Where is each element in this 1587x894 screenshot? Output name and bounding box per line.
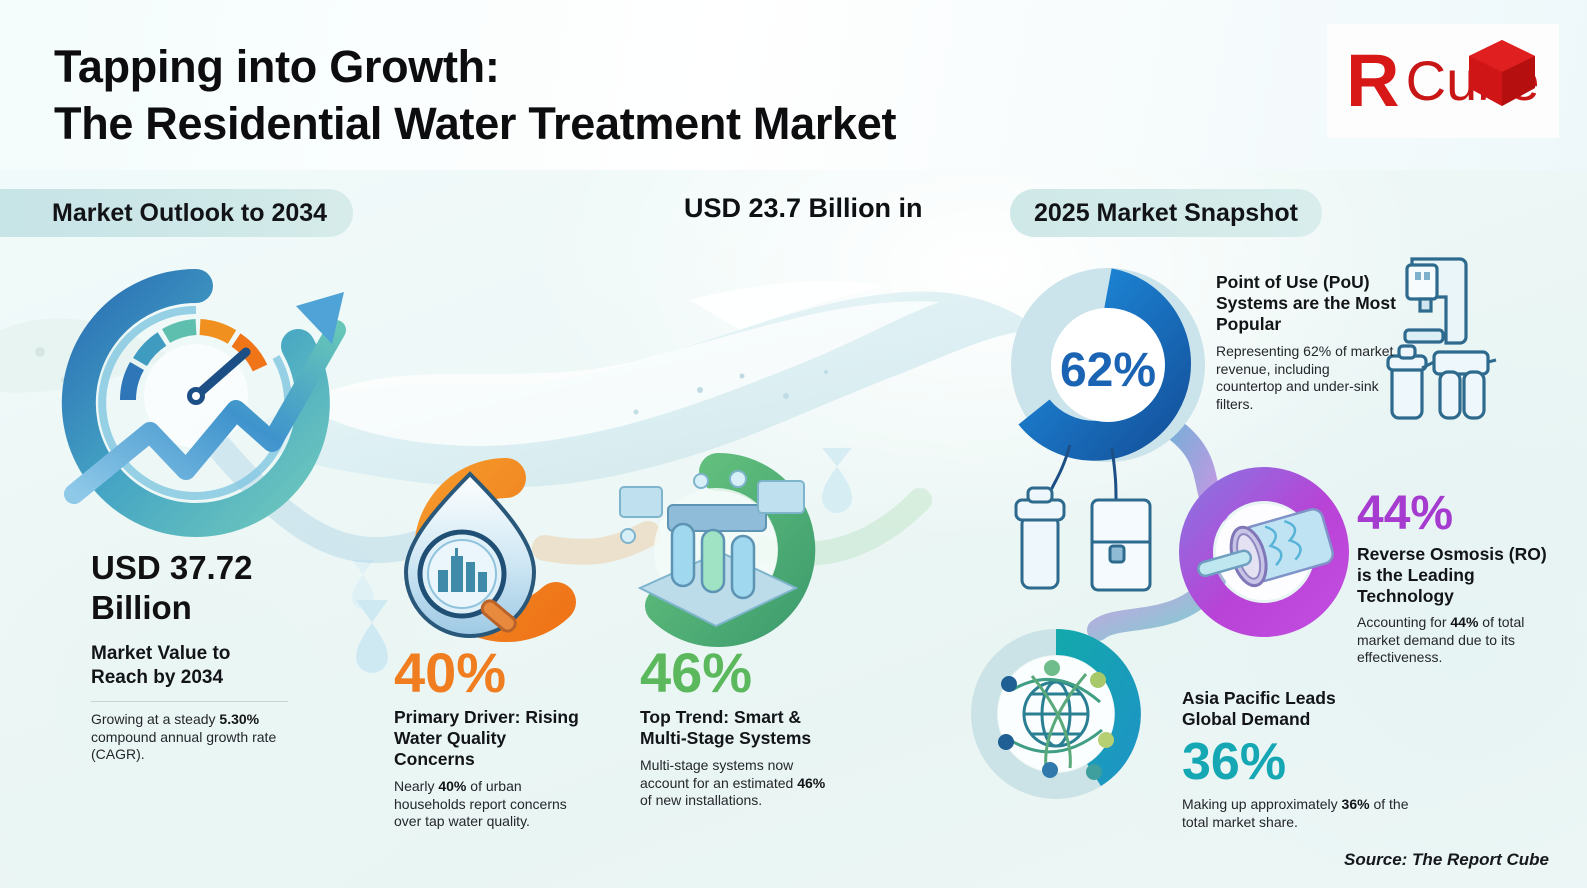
pou-stat: Point of Use (PoU) Systems are the Most … — [1216, 272, 1396, 413]
trend-stat: 46% Top Trend: Smart & Multi-Stage Syste… — [640, 645, 830, 810]
left-stat-heading-line2: Reach by 2034 — [91, 666, 316, 690]
apac-stat-value: 36% — [1182, 733, 1286, 791]
pou-stat-heading: Point of Use (PoU) Systems are the Most … — [1216, 272, 1396, 335]
page-title-line2: The Residential Water Treatment Market — [54, 95, 1174, 152]
left-market-value-stat: USD 37.72 Billion Market Value to Reach … — [91, 548, 316, 764]
ro-stat-value: 44% — [1357, 487, 1453, 540]
apac-stat-heading: Asia Pacific Leads Global Demand — [1182, 688, 1422, 730]
ro-stat-note: Accounting for 44% of total market deman… — [1357, 614, 1557, 667]
band-mid-stat: USD 23.7 Billion in — [684, 193, 923, 224]
left-stat-heading: Market Value to Reach by 2034 — [91, 642, 316, 690]
smart-multistage-filter-icon — [620, 471, 804, 628]
driver-stat-value: 40% — [394, 641, 506, 704]
left-stat-value: USD 37.72 — [91, 548, 316, 588]
left-stat-note: Growing at a steady 5.30% compound annua… — [91, 711, 316, 764]
pou-donut-value: 62% — [1060, 344, 1156, 397]
logo[interactable]: Я Cube — [1327, 24, 1559, 138]
global-network-icon — [984, 642, 1128, 786]
page-title: Tapping into Growth: The Residential Wat… — [54, 38, 1174, 152]
apac-stat-note: Making up approximately 36% of the total… — [1182, 796, 1422, 831]
apac-stat-heading-line1: Asia Pacific Leads — [1182, 688, 1422, 709]
left-stat-heading-line1: Market Value to — [91, 642, 316, 666]
band-market-snapshot-label: 2025 Market Snapshot — [1034, 199, 1298, 228]
driver-stat-note: Nearly 40% of urban households report co… — [394, 778, 584, 831]
countertop-dispenser-icon — [1405, 259, 1466, 343]
divider — [91, 701, 288, 702]
ro-membrane-icon — [1190, 484, 1335, 620]
driver-stat: 40% Primary Driver: Rising Water Quality… — [394, 645, 584, 831]
filter-canister-icon — [1016, 488, 1064, 588]
page-title-line1: Tapping into Growth: — [54, 38, 1174, 95]
pou-donut-chart: 62% — [1031, 288, 1185, 442]
left-stat-value-line2: Billion — [91, 588, 316, 628]
ro-stat: 44% Reverse Osmosis (RO) is the Leading … — [1357, 490, 1557, 667]
driver-stat-heading: Primary Driver: Rising Water Quality Con… — [394, 707, 584, 770]
water-dispenser-icon — [1092, 500, 1150, 590]
apac-stat-heading-line2: Global Demand — [1182, 709, 1422, 730]
red-cube-icon — [1465, 36, 1539, 110]
under-sink-filter-icon — [1388, 346, 1496, 418]
ro-stat-heading: Reverse Osmosis (RO) is the Leading Tech… — [1357, 544, 1557, 607]
logo-mirrored-r-icon: Я — [1346, 44, 1399, 118]
pou-stat-note: Representing 62% of market revenue, incl… — [1216, 343, 1396, 413]
band-market-snapshot: 2025 Market Snapshot — [1010, 189, 1322, 237]
growth-gauge-icon — [74, 286, 344, 520]
trend-stat-value: 46% — [640, 641, 752, 704]
apac-stat: Asia Pacific Leads Global Demand 36% Mak… — [1182, 688, 1422, 831]
trend-stat-note: Multi-stage systems now account for an e… — [640, 757, 830, 810]
infographic-canvas: Tapping into Growth: The Residential Wat… — [0, 0, 1587, 894]
water-drop-magnifier-city-icon — [406, 474, 556, 636]
band-market-outlook-label: Market Outlook to 2034 — [52, 199, 327, 228]
trend-stat-heading: Top Trend: Smart & Multi-Stage Systems — [640, 707, 830, 749]
source-attribution: Source: The Report Cube — [1344, 850, 1549, 870]
band-market-outlook: Market Outlook to 2034 — [0, 189, 353, 237]
